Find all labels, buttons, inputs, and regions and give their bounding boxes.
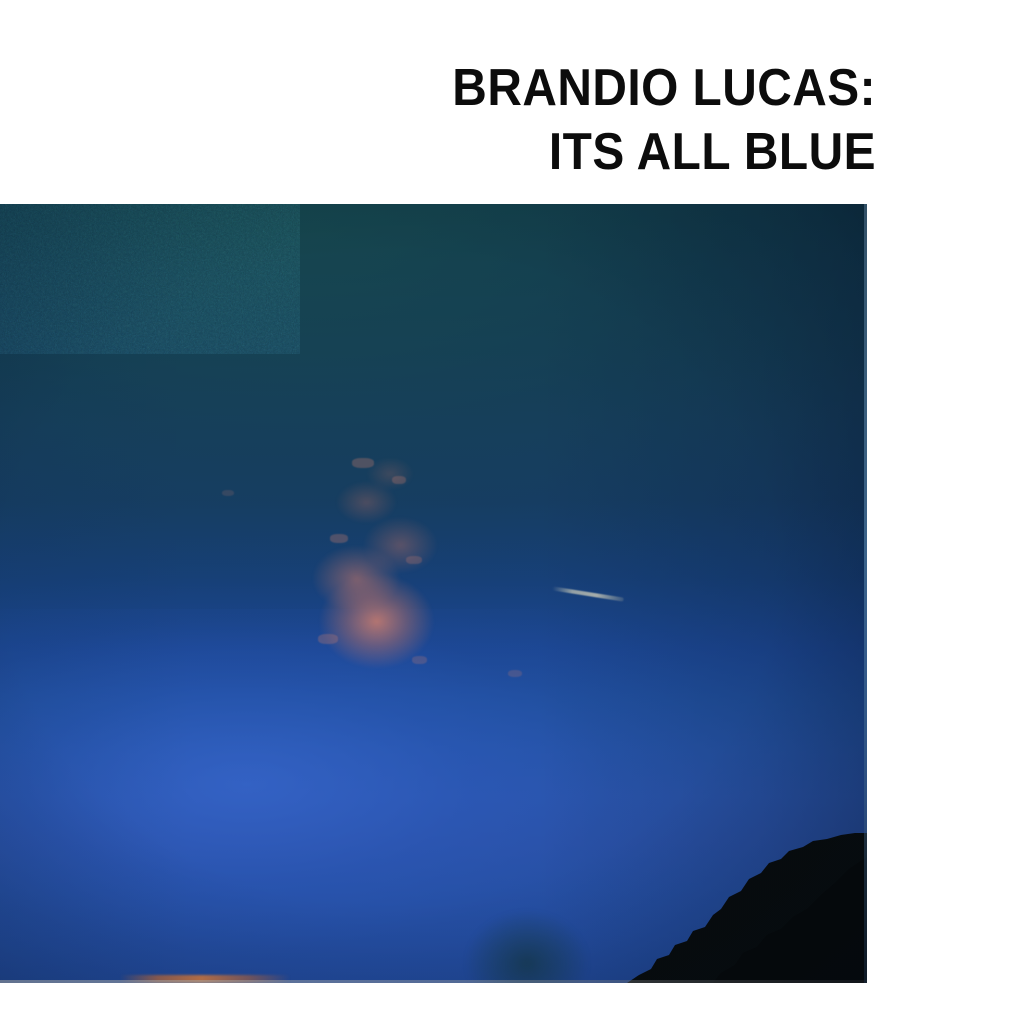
dark-green-smudge (462, 904, 592, 983)
light-leak-speck (508, 670, 522, 677)
light-leak-speck (222, 490, 234, 496)
photo-right-edge (864, 204, 867, 983)
album-cover: BRANDIO LUCAS: ITS ALL BLUE (0, 0, 1024, 1024)
light-leak-speck (352, 458, 374, 468)
cover-artwork (0, 204, 867, 983)
cover-title: BRANDIO LUCAS: ITS ALL BLUE (0, 0, 876, 184)
light-leak-speck (392, 476, 406, 484)
light-leak-speck (406, 556, 422, 564)
title-line-2: ITS ALL BLUE (70, 120, 876, 184)
photo-bottom-edge (0, 980, 867, 983)
light-leak-speck (318, 634, 338, 644)
foliage-silhouette (617, 833, 867, 983)
title-line-1: BRANDIO LUCAS: (70, 56, 876, 120)
light-leak-speck (330, 534, 348, 543)
light-leak-salmon-blob (295, 450, 465, 688)
light-leak-speck (412, 656, 427, 664)
